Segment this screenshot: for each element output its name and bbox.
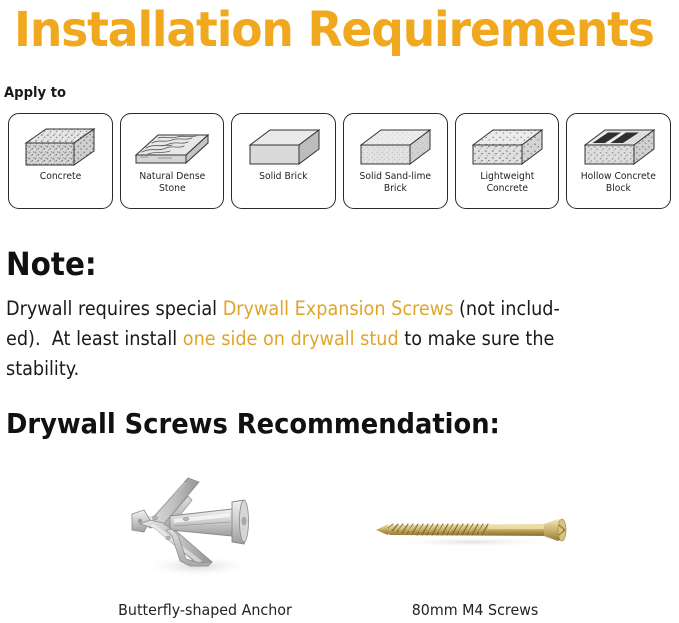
- material-card-concrete: Concrete: [8, 113, 113, 209]
- material-card-label: Natural Dense Stone: [125, 171, 219, 194]
- product-caption-screw: 80mm M4 Screws: [375, 601, 575, 619]
- note-body: Drywall requires special Drywall Expansi…: [6, 294, 611, 384]
- material-card-label: Solid Sand-lime Brick: [348, 171, 442, 194]
- wood-screw-photo: [368, 500, 578, 560]
- material-card-label: Solid Brick: [257, 171, 311, 183]
- material-card-list: Concrete Natural Dense Stone: [8, 113, 671, 209]
- hollow-concrete-block-icon: [575, 121, 663, 169]
- material-card-label: Lightweight Concrete: [460, 171, 554, 194]
- concrete-block-icon: [16, 121, 104, 169]
- note-highlight-drywall-stud: one side on drywall stud: [183, 327, 399, 350]
- butterfly-toggle-anchor-photo: [120, 462, 280, 587]
- product-caption-anchor: Butterfly-shaped Anchor: [96, 601, 315, 619]
- apply-to-label: Apply to: [4, 85, 66, 101]
- stone-slab-icon: [128, 121, 216, 169]
- sand-lime-brick-icon: [351, 121, 439, 169]
- material-card-solid-brick: Solid Brick: [231, 113, 336, 209]
- material-card-label: Concrete: [37, 171, 84, 183]
- recommendation-heading: Drywall Screws Recommendation:: [6, 407, 500, 441]
- material-card-label: Hollow Concrete Block: [571, 171, 665, 194]
- material-card-solid-sand-lime-brick: Solid Sand-lime Brick: [343, 113, 448, 209]
- page-title: Installation Requirements: [14, 2, 641, 58]
- material-card-hollow-concrete-block: Hollow Concrete Block: [566, 113, 671, 209]
- lightweight-concrete-icon: [463, 121, 551, 169]
- note-highlight-expansion-screws: Drywall Expansion Screws: [223, 297, 454, 320]
- note-text-1: Drywall requires special: [6, 297, 223, 320]
- note-heading: Note:: [6, 245, 97, 283]
- material-card-natural-dense-stone: Natural Dense Stone: [120, 113, 225, 209]
- solid-brick-icon: [240, 121, 328, 169]
- material-card-lightweight-concrete: Lightweight Concrete: [455, 113, 560, 209]
